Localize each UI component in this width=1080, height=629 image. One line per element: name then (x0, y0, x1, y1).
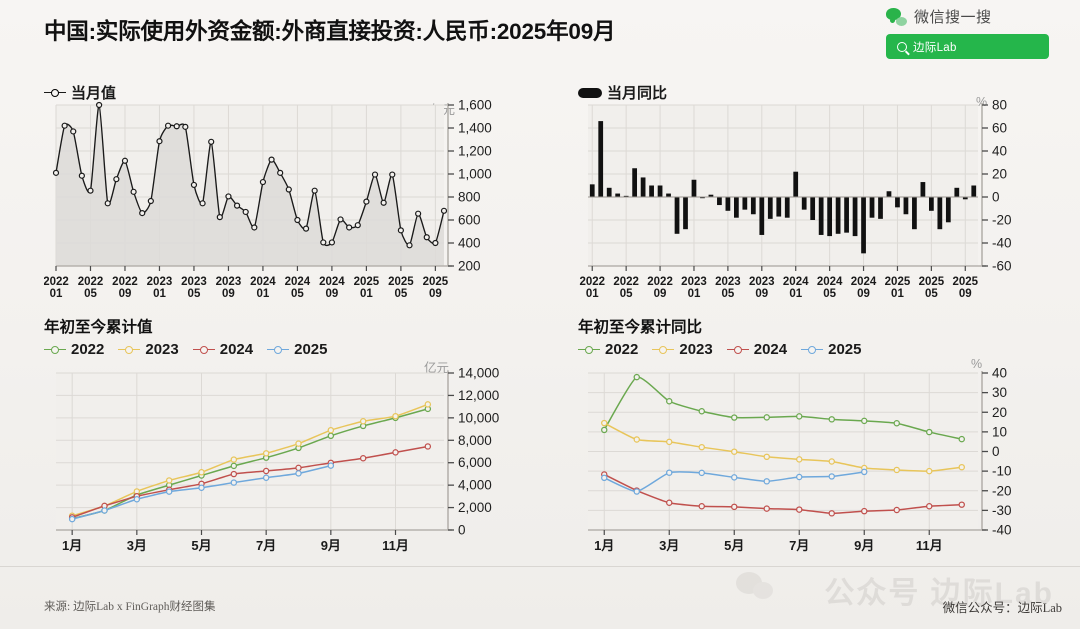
svg-text:1月: 1月 (594, 538, 614, 553)
svg-text:05: 05 (394, 288, 407, 298)
svg-text:2022: 2022 (112, 276, 138, 288)
svg-text:2025: 2025 (952, 276, 978, 288)
svg-text:09: 09 (959, 288, 972, 298)
header: 中国:实际使用外资金额:外商直接投资:人民币:2025年09月 微信搜一搜 边际… (0, 0, 1080, 62)
svg-text:1月: 1月 (62, 538, 82, 553)
svg-text:9月: 9月 (854, 538, 874, 553)
svg-text:30: 30 (992, 385, 1007, 400)
svg-text:2022: 2022 (647, 276, 673, 288)
chart-svg-ytd-yoy: -40-30-20-100102030401月3月5月7月9月11月 (578, 315, 1078, 560)
svg-text:2025: 2025 (423, 276, 449, 288)
svg-text:01: 01 (891, 288, 904, 298)
svg-text:200: 200 (458, 259, 481, 274)
svg-text:09: 09 (326, 288, 339, 298)
svg-text:01: 01 (688, 288, 701, 298)
svg-text:2,000: 2,000 (458, 500, 492, 515)
svg-text:09: 09 (429, 288, 442, 298)
svg-text:09: 09 (222, 288, 235, 298)
svg-text:10,000: 10,000 (458, 410, 499, 425)
svg-text:11月: 11月 (916, 538, 943, 553)
svg-text:2025: 2025 (919, 276, 945, 288)
svg-text:05: 05 (291, 288, 304, 298)
chart-panel-monthly-yoy: 当月同比 % -60-40-20020406080202201202205202… (578, 78, 1078, 298)
source-note: 来源: 边际Lab x FinGraph财经图集 (44, 598, 216, 614)
svg-text:20: 20 (992, 167, 1007, 182)
svg-text:09: 09 (755, 288, 768, 298)
svg-text:9月: 9月 (321, 538, 341, 553)
svg-text:1,400: 1,400 (458, 121, 492, 136)
svg-text:01: 01 (50, 288, 63, 298)
svg-text:0: 0 (458, 523, 466, 538)
svg-text:0: 0 (992, 190, 1000, 205)
svg-text:-40: -40 (992, 236, 1012, 251)
svg-text:-60: -60 (992, 259, 1012, 274)
svg-text:09: 09 (119, 288, 132, 298)
svg-text:2022: 2022 (579, 276, 605, 288)
chart-svg-ytd-value: 02,0004,0006,0008,00010,00012,00014,0001… (44, 315, 534, 560)
page-title: 中国:实际使用外资金额:外商直接投资:人民币:2025年09月 (44, 14, 615, 46)
svg-text:01: 01 (586, 288, 599, 298)
svg-text:1,200: 1,200 (458, 144, 492, 159)
svg-text:5月: 5月 (191, 538, 211, 553)
svg-text:5月: 5月 (724, 538, 744, 553)
svg-text:05: 05 (721, 288, 734, 298)
svg-text:05: 05 (84, 288, 97, 298)
svg-text:-10: -10 (992, 464, 1012, 479)
svg-text:09: 09 (857, 288, 870, 298)
chart-panel-monthly-value: 当月值 亿元 2004006008001,0001,2001,4001,6002… (44, 78, 534, 298)
svg-text:2023: 2023 (147, 276, 173, 288)
svg-text:-20: -20 (992, 483, 1012, 498)
wechat-account-note: 微信公众号：边际Lab (943, 597, 1062, 616)
svg-text:05: 05 (188, 288, 201, 298)
svg-text:3月: 3月 (659, 538, 679, 553)
svg-text:01: 01 (360, 288, 373, 298)
svg-text:6,000: 6,000 (458, 455, 492, 470)
wechat-search-widget: 微信搜一搜 边际Lab (872, 6, 1062, 59)
svg-text:2024: 2024 (817, 276, 843, 288)
svg-text:2024: 2024 (319, 276, 345, 288)
svg-text:80: 80 (992, 98, 1007, 113)
svg-text:2024: 2024 (250, 276, 276, 288)
svg-text:2023: 2023 (681, 276, 707, 288)
svg-text:01: 01 (257, 288, 270, 298)
svg-text:2023: 2023 (181, 276, 207, 288)
wechat-watermark-icon (736, 572, 782, 602)
svg-text:2023: 2023 (715, 276, 741, 288)
chart-svg-monthly-value: 2004006008001,0001,2001,4001,60020220120… (44, 78, 534, 298)
svg-text:2024: 2024 (285, 276, 311, 288)
svg-text:4,000: 4,000 (458, 478, 492, 493)
svg-text:40: 40 (992, 144, 1007, 159)
svg-text:2025: 2025 (885, 276, 911, 288)
svg-text:40: 40 (992, 366, 1007, 381)
svg-text:0: 0 (992, 444, 1000, 459)
svg-text:1,600: 1,600 (458, 98, 492, 113)
svg-text:-30: -30 (992, 503, 1012, 518)
svg-text:60: 60 (992, 121, 1007, 136)
svg-text:01: 01 (153, 288, 166, 298)
svg-text:05: 05 (925, 288, 938, 298)
svg-text:12,000: 12,000 (458, 388, 499, 403)
svg-text:2024: 2024 (851, 276, 877, 288)
svg-text:400: 400 (458, 236, 481, 251)
svg-text:8,000: 8,000 (458, 433, 492, 448)
svg-text:1,000: 1,000 (458, 167, 492, 182)
svg-text:2023: 2023 (216, 276, 242, 288)
chart-svg-monthly-yoy: -60-40-200204060802022012022052022092023… (578, 78, 1078, 298)
wechat-brand-row: 微信搜一搜 (872, 6, 1062, 27)
svg-text:7月: 7月 (789, 538, 809, 553)
svg-text:09: 09 (654, 288, 667, 298)
chart-panel-ytd-value: 年初至今累计值 2022202320242025 亿元 02,0004,0006… (44, 315, 534, 560)
svg-text:600: 600 (458, 213, 481, 228)
chart-panel-ytd-yoy: 年初至今累计同比 2022202320242025 % -40-30-20-10… (578, 315, 1078, 560)
svg-text:2025: 2025 (388, 276, 414, 288)
svg-text:05: 05 (620, 288, 633, 298)
svg-text:14,000: 14,000 (458, 366, 499, 381)
wechat-search-box[interactable]: 边际Lab (886, 34, 1049, 59)
svg-text:20: 20 (992, 405, 1007, 420)
svg-text:800: 800 (458, 190, 481, 205)
svg-text:2022: 2022 (44, 276, 69, 288)
search-icon (897, 42, 907, 52)
svg-text:-20: -20 (992, 213, 1012, 228)
svg-text:2024: 2024 (783, 276, 809, 288)
svg-text:-40: -40 (992, 523, 1012, 538)
page-root: 中国:实际使用外资金额:外商直接投资:人民币:2025年09月 微信搜一搜 边际… (0, 0, 1080, 629)
svg-text:2022: 2022 (613, 276, 639, 288)
footer-divider (0, 566, 1080, 567)
svg-text:01: 01 (789, 288, 802, 298)
wechat-search-value: 边际Lab (913, 39, 957, 55)
svg-text:7月: 7月 (256, 538, 276, 553)
svg-text:10: 10 (992, 424, 1007, 439)
svg-text:2023: 2023 (749, 276, 775, 288)
wechat-logo-icon (886, 8, 907, 26)
svg-text:11月: 11月 (382, 538, 409, 553)
svg-text:2025: 2025 (354, 276, 380, 288)
svg-text:2022: 2022 (78, 276, 104, 288)
svg-text:05: 05 (823, 288, 836, 298)
wechat-search-label: 微信搜一搜 (914, 6, 992, 27)
svg-text:3月: 3月 (127, 538, 147, 553)
